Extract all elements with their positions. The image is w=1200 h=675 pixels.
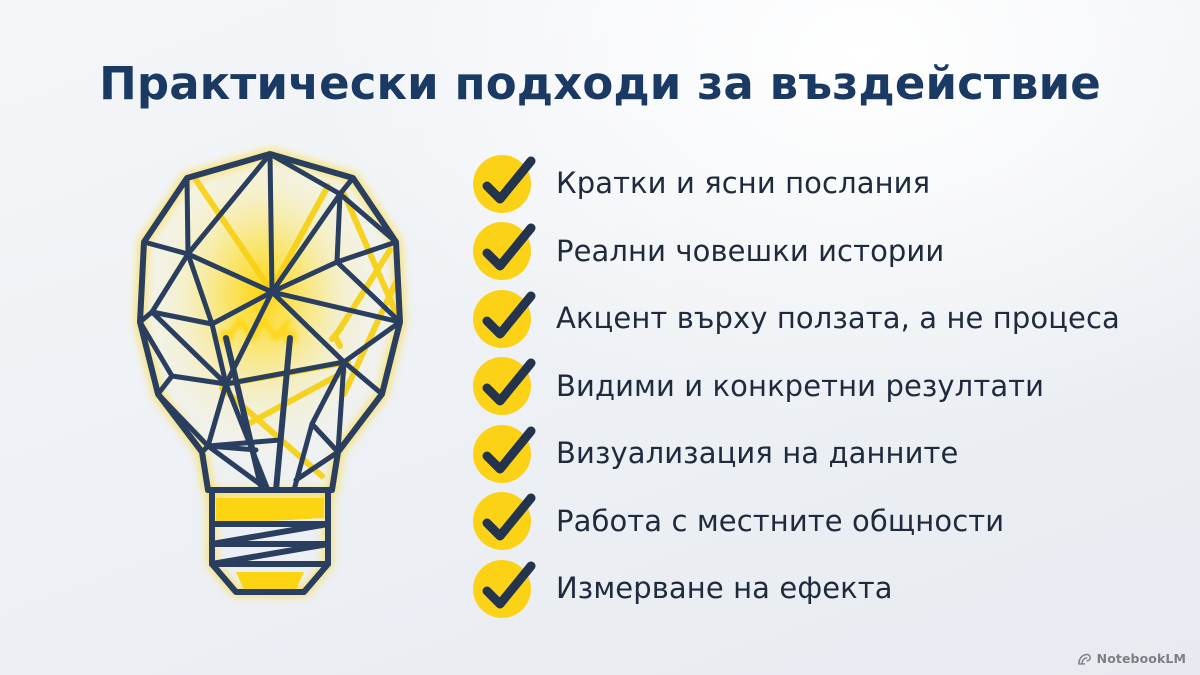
watermark-label: NotebookLM <box>1097 653 1186 666</box>
notebooklm-logo-icon <box>1077 652 1092 667</box>
list-item[interactable]: Работа с местните общности <box>470 488 1170 556</box>
watermark: NotebookLM <box>1077 652 1186 667</box>
check-circle-icon <box>473 425 531 483</box>
check-circle-icon <box>473 222 531 280</box>
checklist: Кратки и ясни послания Реални човешки ис… <box>470 150 1170 623</box>
list-item[interactable]: Акцент върху ползата, а не процеса <box>470 285 1170 353</box>
check-circle-icon <box>473 290 531 348</box>
list-item[interactable]: Видими и конкретни резултати <box>470 353 1170 421</box>
lightbulb-illustration <box>100 132 440 612</box>
list-item-label: Кратки и ясни послания <box>556 169 930 198</box>
slide-canvas: Практически подходи за въздействие <box>0 0 1200 675</box>
check-circle-icon <box>473 357 531 415</box>
check-circle-icon <box>473 560 531 618</box>
list-item-label: Реални човешки истории <box>556 237 944 266</box>
check-circle-icon <box>473 492 531 550</box>
list-item-label: Видими и конкретни резултати <box>556 372 1044 401</box>
list-item[interactable]: Визуализация на данните <box>470 420 1170 488</box>
list-item-label: Работа с местните общности <box>556 507 1004 536</box>
page-title: Практически подходи за въздействие <box>0 57 1200 110</box>
list-item[interactable]: Измерване на ефекта <box>470 555 1170 623</box>
list-item[interactable]: Реални човешки истории <box>470 218 1170 286</box>
list-item-label: Измерване на ефекта <box>556 574 893 603</box>
check-circle-icon <box>473 155 531 213</box>
list-item-label: Акцент върху ползата, а не процеса <box>556 304 1120 333</box>
list-item[interactable]: Кратки и ясни послания <box>470 150 1170 218</box>
lightbulb-icon <box>100 132 440 612</box>
list-item-label: Визуализация на данните <box>556 439 959 468</box>
